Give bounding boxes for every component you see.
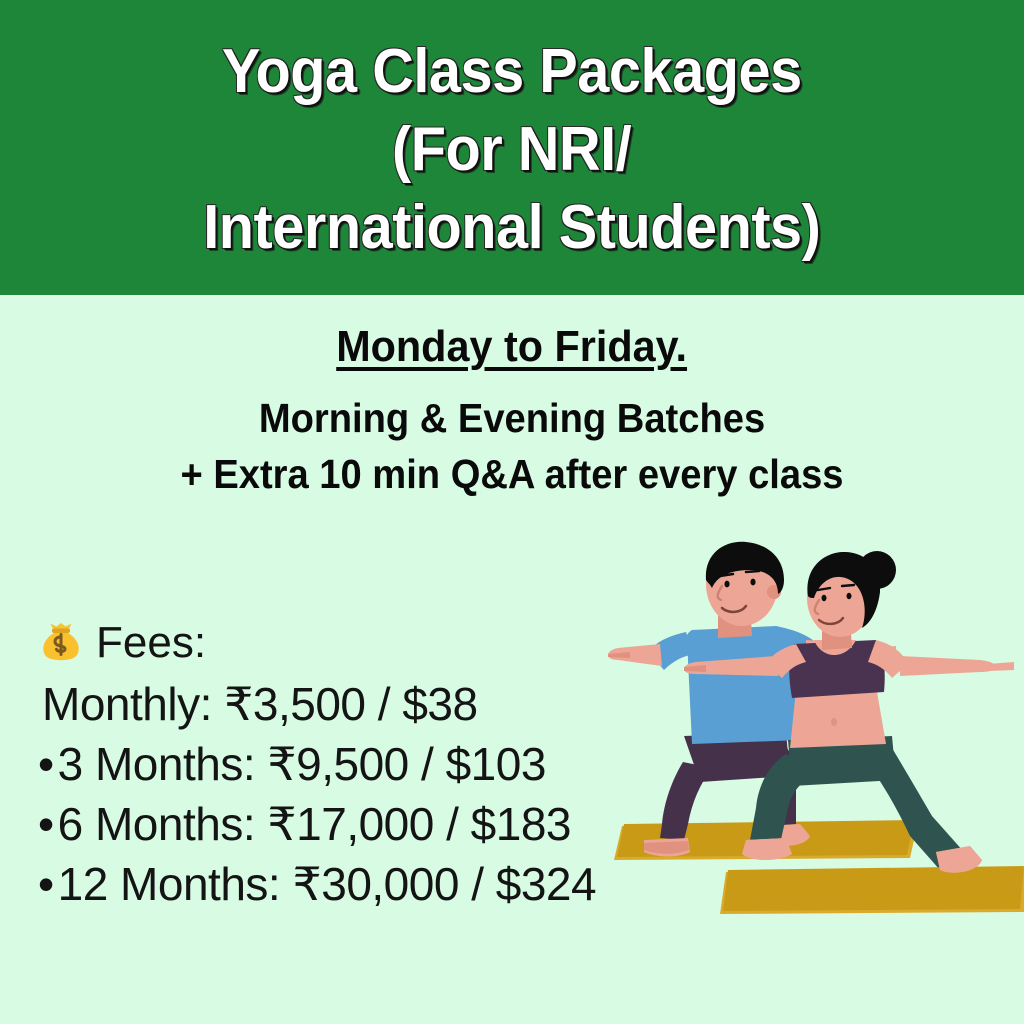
schedule-section: Monday to Friday. Morning & Evening Batc… (0, 318, 1024, 502)
yoga-class-packages-poster: Yoga Class Packages (For NRI/ Internatio… (0, 0, 1024, 1024)
poster-header: Yoga Class Packages (For NRI/ Internatio… (0, 0, 1024, 295)
fee-label: Monthly: ₹3,500 / $38 (42, 678, 478, 730)
fees-list: Monthly: ₹3,500 / $38 •3 Months: ₹9,500 … (38, 674, 658, 914)
fee-item-6-months: •6 Months: ₹17,000 / $183 (38, 794, 658, 854)
fee-label: 12 Months: ₹30,000 / $324 (58, 858, 597, 910)
money-bag-icon (38, 620, 84, 666)
fee-item-3-months: •3 Months: ₹9,500 / $103 (38, 734, 658, 794)
fee-bullet: • (38, 794, 54, 854)
fee-bullet: • (38, 734, 54, 794)
fees-title: Fees: (38, 612, 658, 674)
schedule-qa-line: + Extra 10 min Q&A after every class (36, 446, 988, 502)
yoga-mat-front-icon (720, 866, 1024, 914)
yoga-couple-illustration (600, 540, 1024, 940)
schedule-details: Morning & Evening Batches + Extra 10 min… (0, 390, 1024, 502)
yoga-couple-svg (600, 540, 1024, 940)
fee-item-12-months: •12 Months: ₹30,000 / $324 (38, 854, 658, 914)
poster-title-line-2: (For NRI/ (392, 111, 631, 189)
fee-label: 6 Months: ₹17,000 / $183 (58, 798, 571, 850)
fee-label: 3 Months: ₹9,500 / $103 (58, 738, 546, 790)
fees-section: Fees: Monthly: ₹3,500 / $38 •3 Months: ₹… (38, 612, 658, 914)
schedule-days-heading: Monday to Friday. (337, 318, 688, 376)
fee-item-monthly: Monthly: ₹3,500 / $38 (38, 674, 658, 734)
schedule-batches-line: Morning & Evening Batches (36, 390, 988, 446)
fee-bullet: • (38, 854, 54, 914)
fees-title-label: Fees: (96, 612, 206, 674)
poster-title-line-3: International Students) (203, 189, 820, 267)
poster-title-line-1: Yoga Class Packages (222, 33, 802, 111)
